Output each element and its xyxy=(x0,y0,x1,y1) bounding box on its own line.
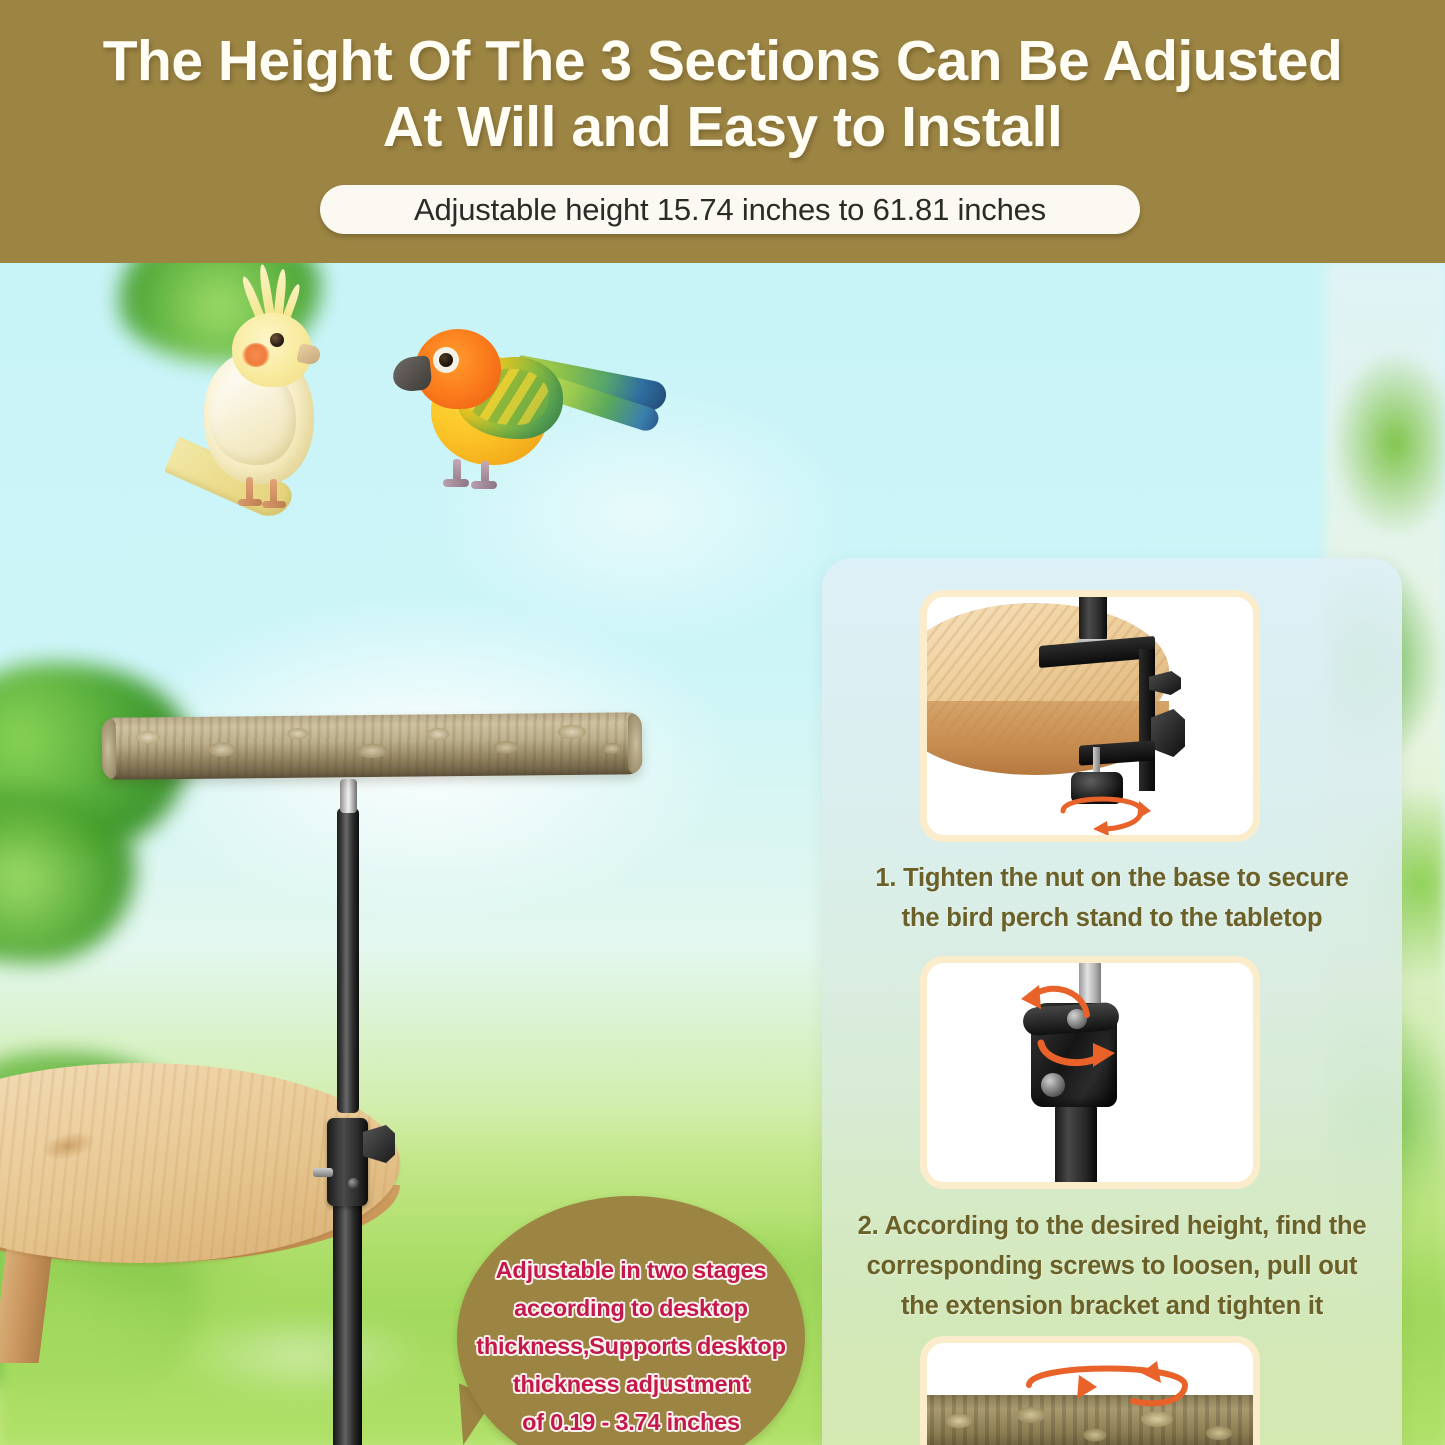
step-1-caption: 1. Tighten the nut on the base to secure… xyxy=(842,858,1382,938)
page-title: The Height Of The 3 Sections Can Be Adju… xyxy=(0,28,1445,160)
pole-lower-section xyxy=(333,1193,362,1445)
height-adjust-joint xyxy=(327,1118,368,1206)
step2-lower-pole xyxy=(1055,1103,1097,1189)
branch-bark-texture xyxy=(102,712,643,780)
height-adjust-bolt xyxy=(348,1178,359,1189)
conure-foot-right xyxy=(471,481,497,489)
callout-line-4: thickness adjustment xyxy=(475,1365,787,1403)
conure-eye xyxy=(439,353,453,367)
step-2-caption-line-2: corresponding screws to loosen, pull out xyxy=(842,1246,1382,1286)
step2-adjustment-screw xyxy=(1041,1073,1065,1097)
cockatiel-foot-right xyxy=(262,501,286,508)
infographic-canvas: The Height Of The 3 Sections Can Be Adju… xyxy=(0,0,1445,1445)
step-2-caption: 2. According to the desired height, find… xyxy=(842,1206,1382,1326)
adjustable-height-pill: Adjustable height 15.74 inches to 61.81 … xyxy=(320,185,1140,234)
product-scene-photo: Adjustable in two stages according to de… xyxy=(0,263,1445,1445)
callout-line-1: Adjustable in two stages xyxy=(475,1251,787,1289)
step-2-caption-line-3: the extension bracket and tighten it xyxy=(842,1286,1382,1326)
callout-line-3: thickness,Supports desktop xyxy=(475,1327,787,1365)
step-1-caption-line-2: the bird perch stand to the tabletop xyxy=(842,898,1382,938)
conure-leg-left xyxy=(453,459,461,481)
callout-text: Adjustable in two stages according to de… xyxy=(475,1251,787,1441)
step-2-image-card xyxy=(920,956,1260,1189)
callout-line-5: of 0.19 - 3.74 inches xyxy=(475,1403,787,1441)
wood-perch-branch xyxy=(102,712,643,780)
header-banner: The Height Of The 3 Sections Can Be Adju… xyxy=(0,0,1445,263)
desktop-thickness-callout: Adjustable in two stages according to de… xyxy=(457,1196,805,1445)
cockatiel-foot-left xyxy=(238,499,262,506)
branch-end-left xyxy=(102,718,117,780)
bird-cockatiel xyxy=(170,291,400,521)
step1-clamp-wing-lower xyxy=(1151,709,1185,757)
adjustable-height-text: Adjustable height 15.74 inches to 61.81 … xyxy=(414,192,1046,228)
instruction-panel: 1. Tighten the nut on the base to secure… xyxy=(822,558,1402,1445)
branch-end-right xyxy=(628,712,643,774)
pole-top-chrome-cap xyxy=(340,779,357,813)
step-3-image-card xyxy=(920,1336,1260,1445)
conure-beak xyxy=(391,355,432,393)
title-line-2: At Will and Easy to Install xyxy=(40,94,1405,160)
pole-upper-section xyxy=(337,808,359,1113)
height-adjust-wing-nut xyxy=(363,1125,395,1163)
conure-leg-right xyxy=(481,461,489,483)
callout-line-2: according to desktop xyxy=(475,1289,787,1327)
cockatiel-cheek-patch xyxy=(242,343,270,367)
height-adjust-screw xyxy=(313,1168,333,1177)
step-1-image-card xyxy=(920,590,1260,842)
step1-pole xyxy=(1079,591,1107,641)
rotate-arrow-icon-step2-bottom xyxy=(1031,1029,1123,1075)
conure-foot-left xyxy=(443,479,469,487)
cockatiel-eye xyxy=(270,333,284,347)
rotate-arrow-icon-step2-top xyxy=(1011,977,1101,1033)
rotate-arrow-icon-step3 xyxy=(1007,1357,1207,1413)
title-line-1: The Height Of The 3 Sections Can Be Adju… xyxy=(40,28,1405,94)
rotate-arrow-icon-step1 xyxy=(1047,789,1157,833)
bird-sun-conure xyxy=(395,309,685,509)
step-2-caption-line-1: 2. According to the desired height, find… xyxy=(842,1206,1382,1246)
step-1-caption-line-1: 1. Tighten the nut on the base to secure xyxy=(842,858,1382,898)
